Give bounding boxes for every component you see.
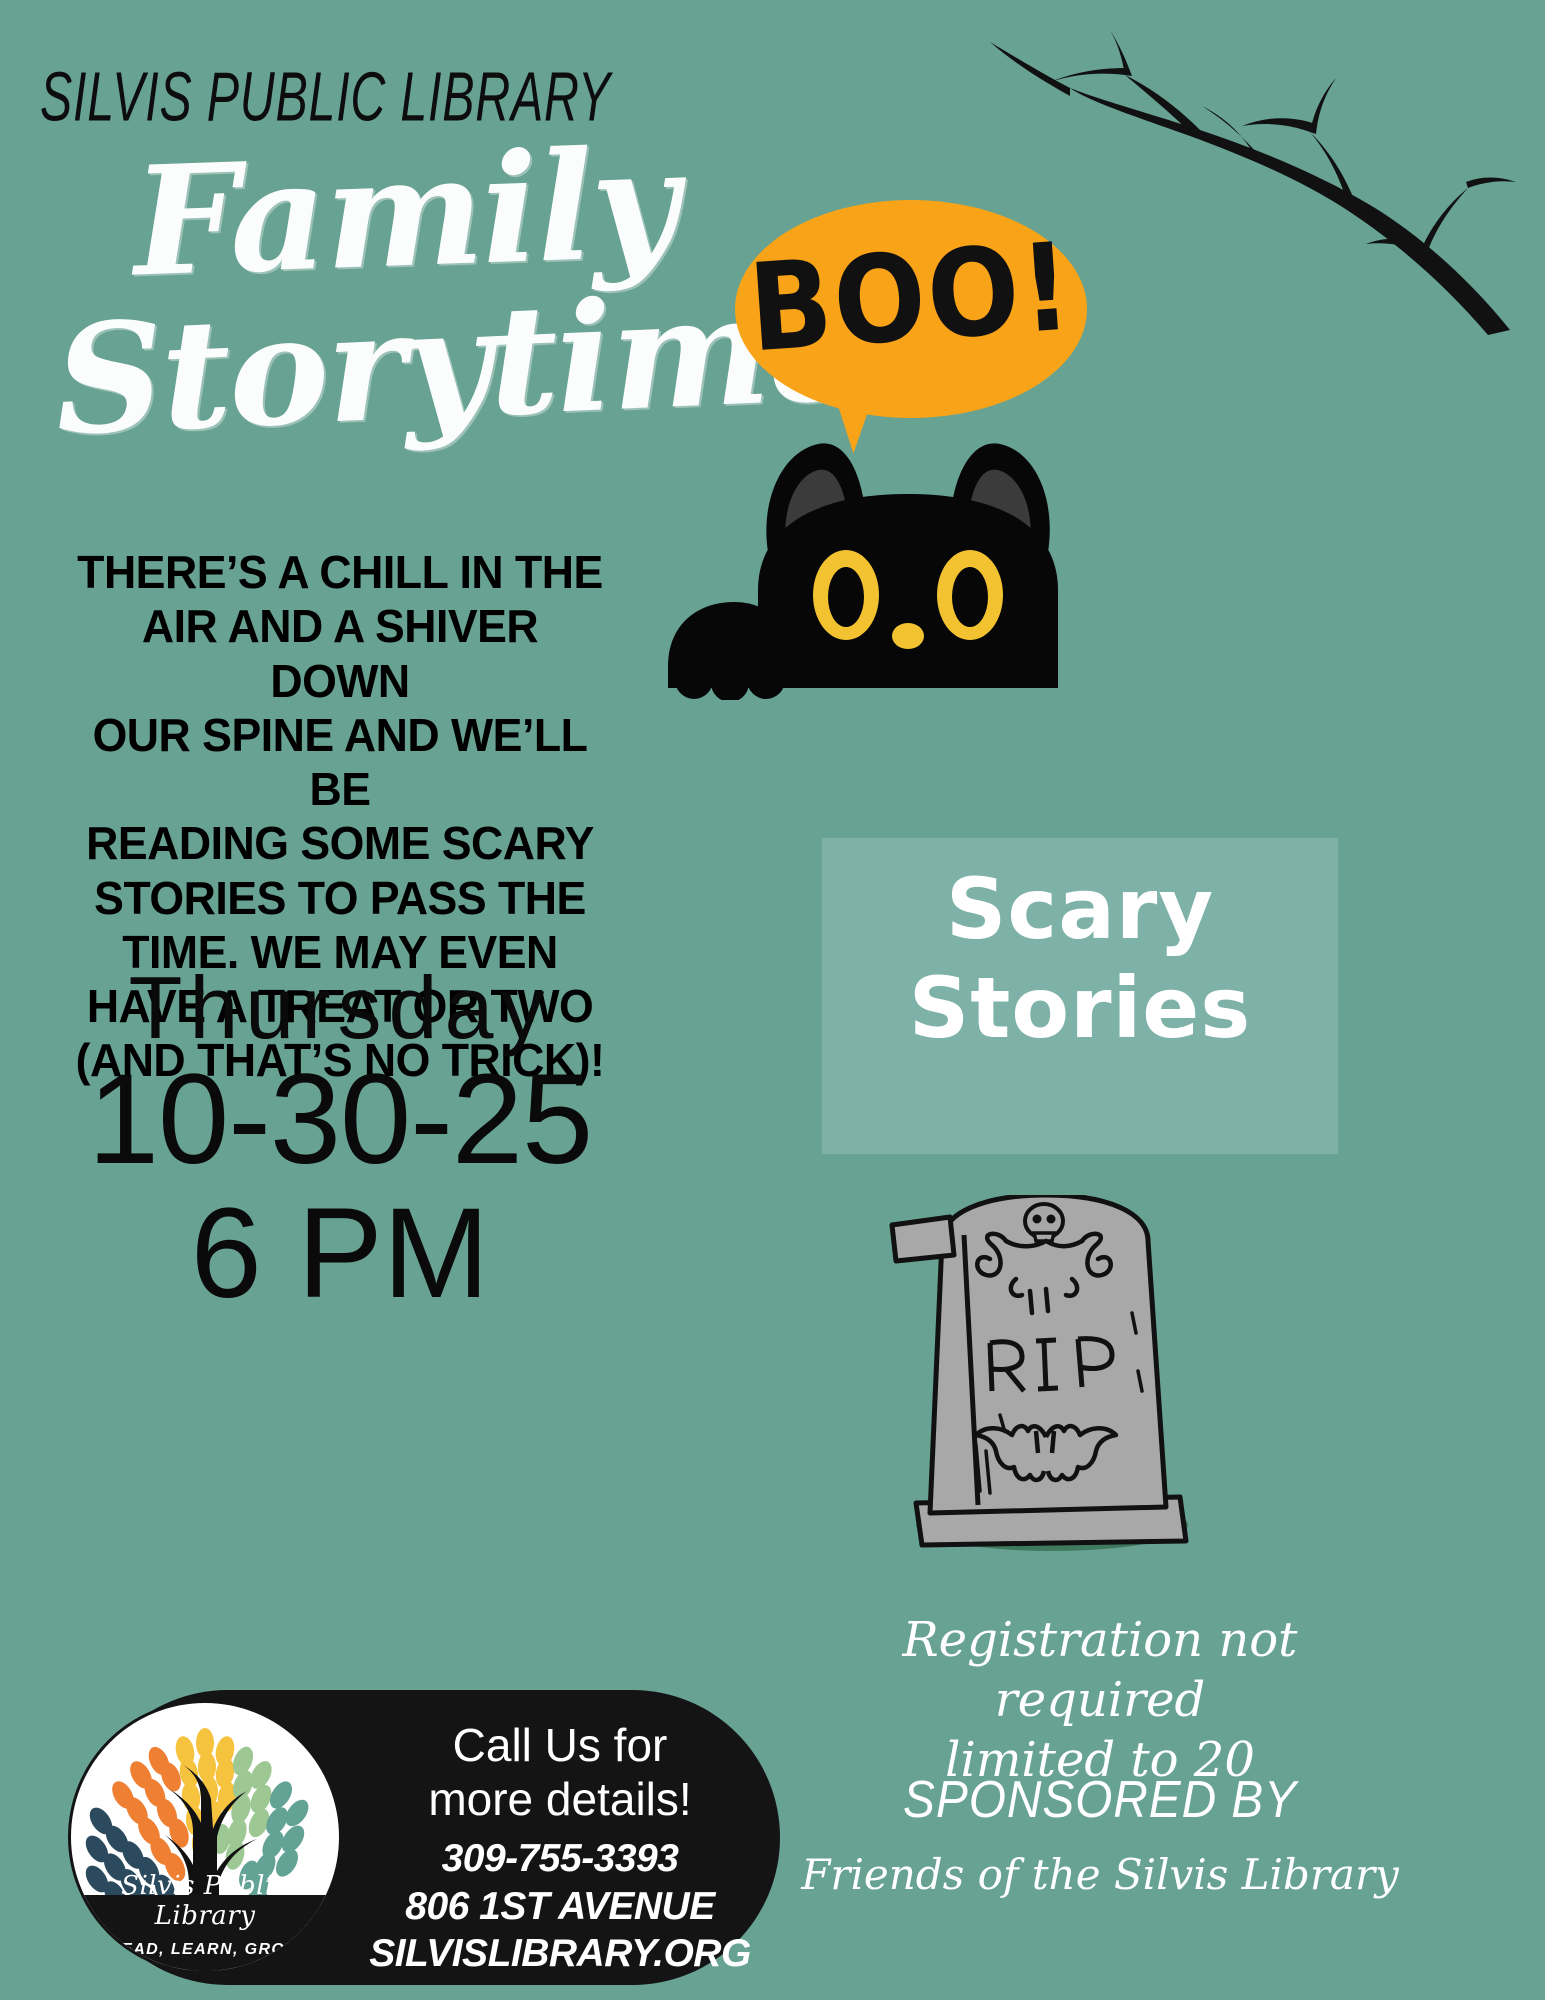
contact-details: 309-755-3393 806 1ST AVENUE SILVISLIBRAR…	[360, 1835, 760, 1978]
event-date: 10-30-25	[80, 1053, 600, 1187]
event-datetime: Thursday 10-30-25 6 PM	[80, 960, 600, 1322]
event-time: 6 PM	[80, 1187, 600, 1321]
call-us-text: Call Us for more details!	[360, 1718, 760, 1827]
registration-line-1: Registration not required	[790, 1610, 1410, 1730]
sign-line-1: Scary	[822, 860, 1338, 959]
description-line: AIR AND A SHIVER DOWN	[68, 599, 611, 708]
call-line-1: Call Us for	[360, 1718, 760, 1772]
tombstone-illustration	[880, 1195, 1220, 1555]
registration-note: Registration not required limited to 20	[790, 1610, 1410, 1790]
scary-stories-label: Scary Stories	[822, 860, 1338, 1058]
event-title: Family Storytime	[55, 140, 755, 440]
sign-line-2: Stories	[822, 959, 1338, 1058]
speech-bubble-text: BOO!	[731, 216, 1092, 380]
description-line: STORIES TO PASS THE	[68, 871, 611, 925]
description-line: READING SOME SCARY	[68, 816, 611, 870]
street-address: 806 1ST AVENUE	[360, 1883, 760, 1931]
sponsor-label: SPONSORED BY	[815, 1770, 1385, 1830]
black-cat-illustration	[650, 440, 1070, 700]
poster-canvas: SILVIS PUBLIC LIBRARY Family Storytime T…	[0, 0, 1545, 2000]
boo-speech-bubble: BOO!	[735, 200, 1095, 470]
description-line: THERE’S A CHILL IN THE	[68, 545, 611, 599]
logo-library-name: Silvis Public Library	[71, 1871, 339, 1931]
sponsor-name: Friends of the Silvis Library	[790, 1850, 1410, 1899]
logo-tagline: READ, LEARN, GROW	[71, 1941, 339, 1959]
library-logo: Silvis Public Library READ, LEARN, GROW	[68, 1700, 342, 1974]
description-line: OUR SPINE AND WE’LL BE	[68, 708, 611, 817]
event-day: Thursday	[80, 960, 600, 1055]
call-line-2: more details!	[360, 1772, 760, 1826]
website-url[interactable]: SILVISLIBRARY.ORG	[360, 1930, 760, 1978]
event-title-line-2: Storytime	[52, 278, 758, 455]
phone-number[interactable]: 309-755-3393	[360, 1835, 760, 1883]
